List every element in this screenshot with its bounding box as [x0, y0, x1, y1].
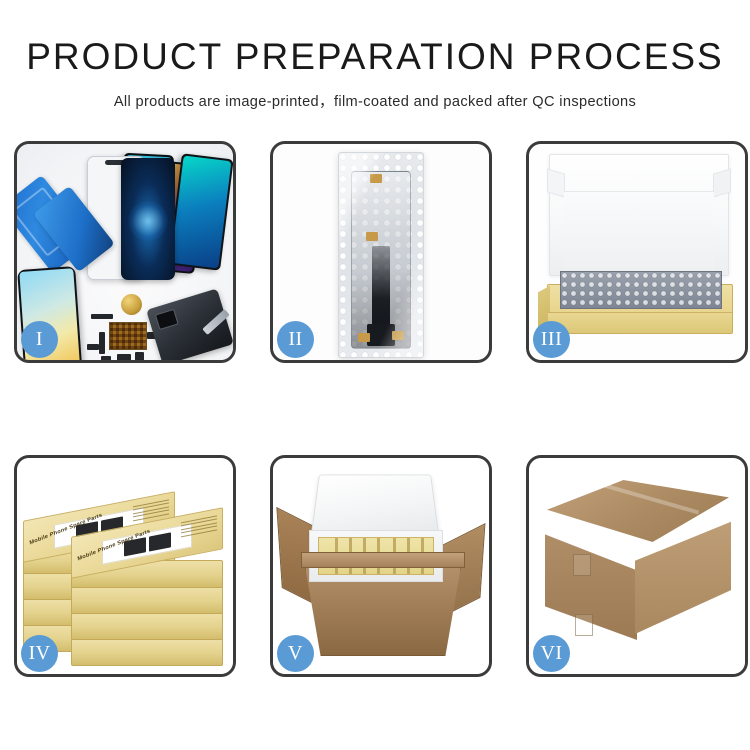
carton-tape-upper [573, 554, 591, 576]
carton-top-rim [301, 552, 465, 568]
carton-tape-lower [575, 614, 593, 636]
contact-pad-grid [109, 322, 147, 350]
box-lid-white [549, 154, 729, 276]
stacked-box [71, 586, 223, 614]
label-thumb [149, 532, 171, 551]
lid-inner-face [564, 191, 714, 272]
foam-box-lid [310, 475, 439, 538]
process-step-1: I [14, 141, 236, 363]
step-badge-2: II [277, 321, 314, 358]
page-subtitle: All products are image-printed，film-coat… [0, 90, 750, 111]
small-part [91, 314, 113, 319]
label-line [181, 529, 217, 537]
header: PRODUCT PREPARATION PROCESS All products… [0, 0, 750, 111]
process-step-3: III [526, 141, 748, 363]
small-part [117, 354, 131, 360]
step-badge-1: I [21, 321, 58, 358]
small-part [87, 344, 99, 350]
lcd-display-module [121, 158, 175, 280]
bubble-wrap-bag [338, 152, 424, 358]
process-step-4: Mobile Phone Spare Parts [14, 455, 236, 677]
small-part [135, 352, 144, 360]
process-step-grid: I II [14, 141, 736, 677]
process-step-5: V [270, 455, 492, 677]
step-badge-4: IV [21, 635, 58, 672]
kraft-box-tray [547, 284, 733, 334]
bubble-wrap-padding [560, 271, 722, 309]
step-badge-5: V [277, 635, 314, 672]
stacked-box [71, 638, 223, 666]
tray-front-face [548, 312, 732, 333]
label-text-lines [181, 515, 217, 539]
step-badge-3: III [533, 321, 570, 358]
stacked-box [71, 612, 223, 640]
phone-screen [171, 155, 232, 268]
step-badge-6: VI [533, 635, 570, 672]
box-stack: Mobile Phone Spare Parts [23, 474, 231, 664]
small-part [101, 356, 111, 360]
process-step-2: II [270, 141, 492, 363]
vibrator-motor-part [121, 294, 142, 315]
lid-tab-right [713, 168, 731, 197]
process-step-6: VI [526, 455, 748, 677]
plastic-sheen [339, 153, 423, 357]
flex-cable-part [99, 332, 105, 354]
page-title: PRODUCT PREPARATION PROCESS [0, 38, 750, 75]
lid-tab-left [547, 168, 565, 197]
